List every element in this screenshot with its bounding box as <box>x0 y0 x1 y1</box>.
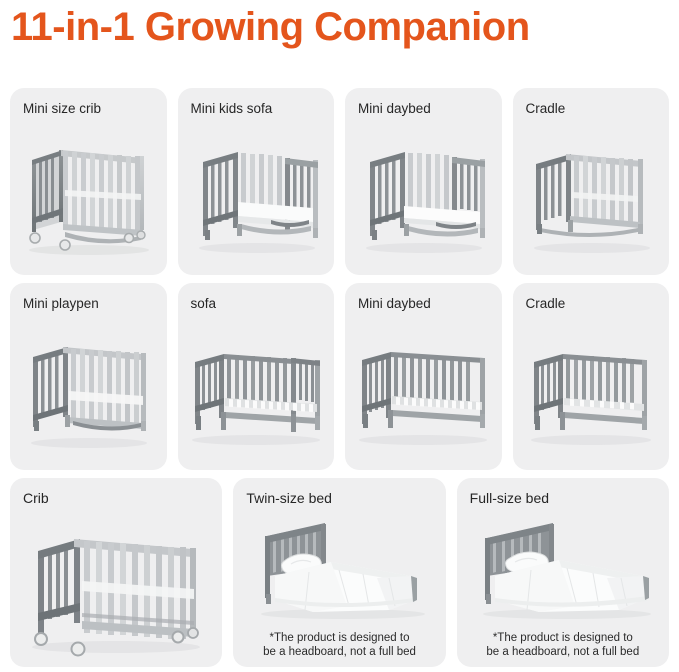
config-card-full-size-bed[interactable]: Full-size bed <box>457 478 669 667</box>
cradle-illustration <box>513 122 670 271</box>
grid-row: Crib <box>0 478 679 667</box>
card-label: Cradle <box>526 295 566 312</box>
config-card-crib[interactable]: Crib <box>10 478 222 667</box>
config-card-mini-kids-sofa[interactable]: Mini kids sofa <box>178 88 335 275</box>
page-title: 11-in-1 Growing Companion <box>11 2 530 52</box>
twin-bed-illustration <box>233 508 445 627</box>
card-label: Mini size crib <box>23 100 101 117</box>
config-card-mini-playpen[interactable]: Mini playpen <box>10 283 167 470</box>
product-feature-infographic: 11-in-1 Growing Companion Mini size crib <box>0 0 679 672</box>
card-label: Mini daybed <box>358 100 431 117</box>
sofa-illustration <box>178 317 335 466</box>
card-label: Full-size bed <box>470 490 549 507</box>
daybed-illustration <box>345 317 502 466</box>
card-label: Twin-size bed <box>246 490 332 507</box>
mini-kids-sofa-illustration <box>178 122 335 271</box>
card-label: Mini kids sofa <box>191 100 273 117</box>
mini-daybed-illustration <box>345 122 502 271</box>
grid-row: Mini playpen <box>0 283 679 470</box>
config-card-twin-size-bed[interactable]: Twin-size bed <box>233 478 445 667</box>
grid-row: Mini size crib <box>0 88 679 275</box>
mini-crib-illustration <box>10 122 167 271</box>
configuration-grid: Mini size crib <box>0 88 679 667</box>
card-label: Mini playpen <box>23 295 99 312</box>
card-label: Cradle <box>526 100 566 117</box>
config-card-cradle[interactable]: Cradle <box>513 88 670 275</box>
config-card-mini-size-crib[interactable]: Mini size crib <box>10 88 167 275</box>
card-label: Crib <box>23 490 49 507</box>
mini-playpen-illustration <box>10 317 167 466</box>
full-bed-illustration <box>457 508 669 627</box>
headboard-footnote: *The product is designed to be a headboa… <box>239 631 439 659</box>
config-card-cradle-2[interactable]: Cradle <box>513 283 670 470</box>
full-crib-illustration <box>10 512 222 661</box>
config-card-mini-daybed[interactable]: Mini daybed <box>345 88 502 275</box>
headboard-footnote: *The product is designed to be a headboa… <box>463 631 663 659</box>
large-cradle-illustration <box>513 317 670 466</box>
card-label: sofa <box>191 295 217 312</box>
config-card-sofa[interactable]: sofa <box>178 283 335 470</box>
card-label: Mini daybed <box>358 295 431 312</box>
config-card-mini-daybed-2[interactable]: Mini daybed <box>345 283 502 470</box>
